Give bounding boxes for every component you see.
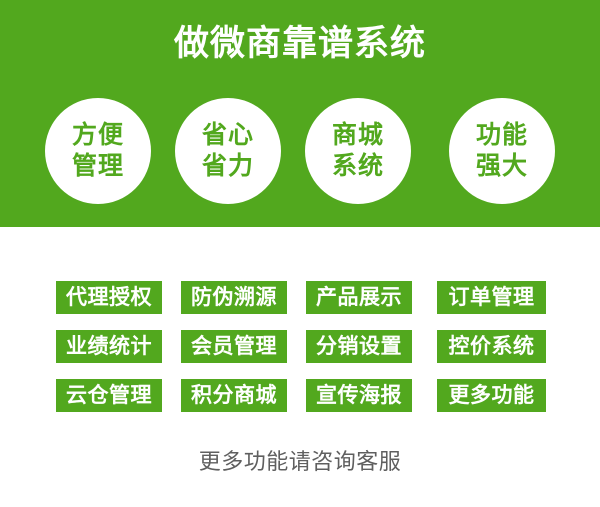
highlight-circle-4: 功能 强大 [449, 98, 555, 204]
promo-poster: 做微商靠谱系统 方便 管理 省心 省力 商城 系统 功能 强大 代理授权 [0, 0, 600, 507]
feature-tag[interactable]: 订单管理 [437, 281, 546, 314]
feature-tag-row: 业绩统计 会员管理 分销设置 控价系统 [56, 330, 546, 379]
feature-tag[interactable]: 业绩统计 [56, 330, 162, 363]
feature-tag[interactable]: 产品展示 [306, 281, 412, 314]
highlight-circle-2: 省心 省力 [175, 98, 281, 204]
highlight-circle-4-line1: 功能 [476, 120, 528, 151]
feature-tag[interactable]: 会员管理 [181, 330, 287, 363]
highlight-circle-2-line1: 省心 [202, 120, 254, 151]
highlight-circle-row: 方便 管理 省心 省力 商城 系统 功能 强大 [0, 98, 600, 204]
highlight-circle-1-line1: 方便 [72, 120, 124, 151]
page-title: 做微商靠谱系统 [0, 22, 600, 66]
highlight-circle-3-line1: 商城 [332, 120, 384, 151]
feature-tag[interactable]: 防伪溯源 [181, 281, 287, 314]
highlight-circle-3-line2: 系统 [332, 151, 384, 182]
feature-tag-row: 云仓管理 积分商城 宣传海报 更多功能 [56, 379, 546, 428]
feature-tag[interactable]: 更多功能 [437, 379, 546, 412]
feature-tag[interactable]: 分销设置 [306, 330, 412, 363]
feature-tag[interactable]: 代理授权 [56, 281, 162, 314]
highlight-circle-1-line2: 管理 [72, 151, 124, 182]
feature-tag-grid: 代理授权 防伪溯源 产品展示 订单管理 业绩统计 会员管理 分销设置 控价系统 … [56, 281, 546, 428]
footer-caption: 更多功能请咨询客服 [0, 448, 600, 476]
highlight-circle-2-line2: 省力 [202, 151, 254, 182]
feature-tag[interactable]: 宣传海报 [306, 379, 412, 412]
feature-tag-row: 代理授权 防伪溯源 产品展示 订单管理 [56, 281, 546, 330]
highlight-circle-3: 商城 系统 [305, 98, 411, 204]
feature-tag[interactable]: 控价系统 [437, 330, 546, 363]
feature-tag[interactable]: 积分商城 [181, 379, 287, 412]
hero-banner: 做微商靠谱系统 方便 管理 省心 省力 商城 系统 功能 强大 [0, 0, 600, 227]
feature-tag[interactable]: 云仓管理 [56, 379, 162, 412]
highlight-circle-4-line2: 强大 [476, 151, 528, 182]
highlight-circle-1: 方便 管理 [45, 98, 151, 204]
